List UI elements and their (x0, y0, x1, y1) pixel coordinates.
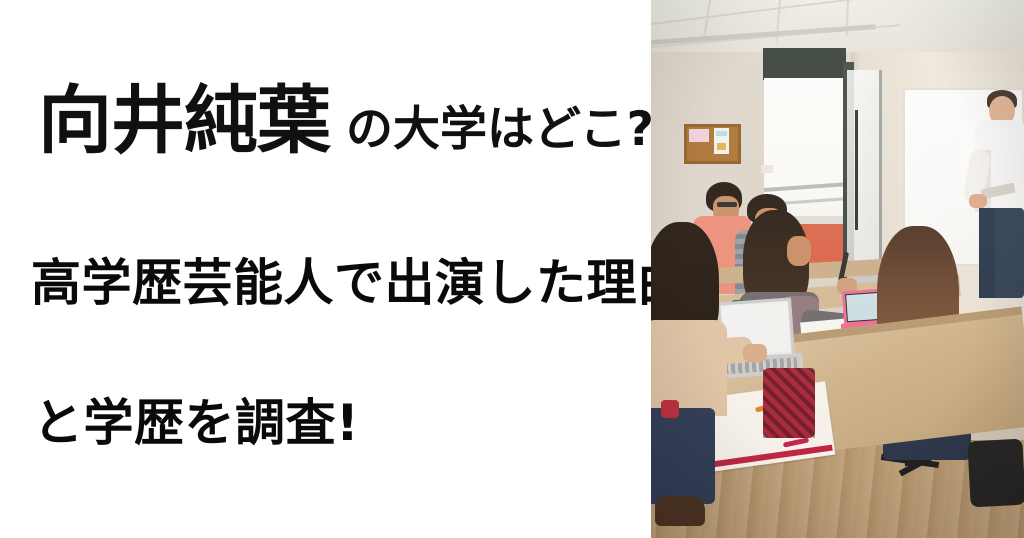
headline-line-1: 向井純葉 の大学はどこ? (38, 84, 651, 158)
instructor-hand (969, 194, 987, 208)
classroom-photo (651, 0, 1024, 538)
screenshot-canvas: 向井純葉 の大学はどこ? 高学歴芸能人で出演した理由 と学歴を調査! (0, 0, 1024, 538)
headline-line-2: 高学歴芸能人で出演した理由 (31, 258, 651, 308)
student-glasses (717, 202, 737, 207)
wall-plate (761, 165, 773, 173)
corkboard-poster-detail (716, 131, 727, 136)
door-transom (763, 48, 846, 80)
headline-question-text: の大学はどこ? (346, 106, 651, 158)
instructor-pants-shadow (979, 208, 995, 298)
student-shoe (655, 496, 705, 526)
office-chair-back (967, 439, 1024, 508)
corkboard-poster-detail (717, 143, 726, 150)
student-red-accessory (661, 400, 679, 418)
corkboard-pink-notice (689, 129, 709, 142)
student-face (787, 236, 811, 266)
headline-line-3: と学歴を調査! (33, 398, 359, 448)
student-jeans (651, 408, 715, 504)
student-hand (743, 344, 767, 362)
door-handle (855, 110, 858, 230)
person-name-text: 向井純葉 (38, 84, 330, 158)
headline-text-panel: 向井純葉 の大学はどこ? 高学歴芸能人で出演した理由 と学歴を調査! (0, 0, 651, 538)
student-red-top-pattern (763, 368, 815, 438)
